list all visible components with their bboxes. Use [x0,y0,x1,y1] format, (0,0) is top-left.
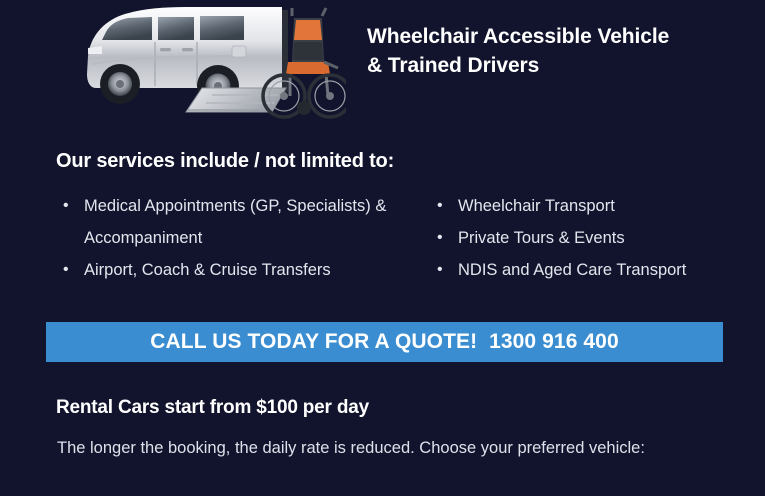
hero-section: Wheelchair Accessible Vehicle & Trained … [0,0,765,125]
services-list: • Medical Appointments (GP, Specialists)… [0,190,765,290]
list-item: • Private Tours & Events [430,222,760,254]
list-item-label: NDIS and Aged Care Transport [458,261,686,279]
bullet-icon: • [63,190,69,222]
services-column-right: • Wheelchair Transport • Private Tours &… [430,190,760,286]
hero-heading-line-1: Wheelchair Accessible Vehicle [367,22,757,51]
list-item: • NDIS and Aged Care Transport [430,254,760,286]
list-item-label: Medical Appointments (GP, Specialists) &… [84,197,386,247]
bullet-icon: • [63,254,69,286]
bullet-icon: • [437,254,443,286]
call-to-action-banner[interactable]: CALL US TODAY FOR A QUOTE! 1300 916 400 [46,322,723,362]
hero-heading-line-2: & Trained Drivers [367,51,757,80]
promo-page: Wheelchair Accessible Vehicle & Trained … [0,0,765,496]
list-item: • Airport, Coach & Cruise Transfers [56,254,406,286]
rental-description: The longer the booking, the daily rate i… [57,432,729,464]
page-title: Wheelchair Accessible Vehicle & Trained … [367,22,757,80]
rental-heading: Rental Cars start from $100 per day [56,397,369,419]
bullet-icon: • [437,190,443,222]
list-item-label: Airport, Coach & Cruise Transfers [84,261,331,279]
list-item-label: Private Tours & Events [458,229,625,247]
bullet-icon: • [437,222,443,254]
cta-label: CALL US TODAY FOR A QUOTE! 1300 916 400 [150,330,619,354]
list-item: • Wheelchair Transport [430,190,760,222]
list-item-label: Wheelchair Transport [458,197,615,215]
services-column-left: • Medical Appointments (GP, Specialists)… [56,190,406,286]
services-heading: Our services include / not limited to: [56,150,394,173]
wheelchair-accessible-van-photo [36,0,346,120]
list-item: • Medical Appointments (GP, Specialists)… [56,190,406,254]
